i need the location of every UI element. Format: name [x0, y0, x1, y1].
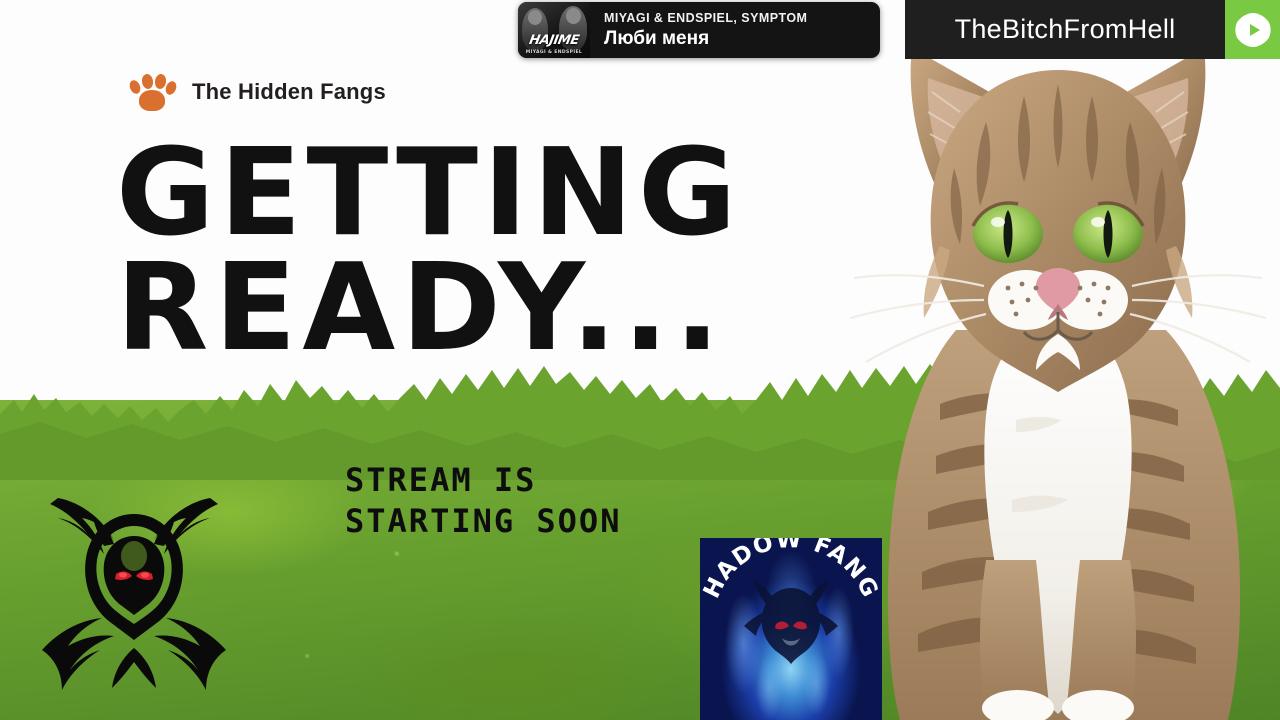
play-triangle-icon: [1233, 10, 1273, 50]
stream-overlay-screen: The Hidden Fangs GETTING READY... STREAM…: [0, 0, 1280, 720]
watermark-label: The Hidden Fangs: [192, 79, 386, 105]
tabby-cat-illustration: [836, 0, 1280, 720]
platform-logo[interactable]: [1225, 0, 1280, 59]
subtitle-line-1: STREAM IS: [345, 460, 765, 501]
subtitle-line-2: STARTING SOON: [345, 501, 765, 542]
page-title: GETTING READY...: [116, 136, 816, 366]
channel-watermark: The Hidden Fangs: [128, 72, 386, 112]
streamer-name: TheBitchFromHell: [955, 14, 1176, 45]
tribal-beast-head-icon: [18, 462, 250, 700]
now-playing-info: MIYAGI & ENDSPIEL, SYMPTOM Люби меня: [590, 11, 880, 50]
status-text: STREAM IS STARTING SOON: [345, 460, 765, 542]
now-playing-track: Люби меня: [604, 28, 858, 50]
album-art-head-right: [566, 8, 581, 24]
album-art-subtitle: MIYAGI & ENDSPIEL: [518, 50, 590, 55]
streamer-name-bar: TheBitchFromHell: [905, 0, 1225, 59]
headline-line-2: READY...: [116, 251, 816, 366]
now-playing-artist: MIYAGI & ENDSPIEL, SYMPTOM: [604, 11, 858, 26]
paw-icon: [128, 72, 176, 112]
now-playing-overlay: HAJIME MIYAGI & ENDSPIEL MIYAGI & ENDSPI…: [518, 2, 880, 58]
album-art-head-left: [528, 10, 542, 25]
album-art-title: HAJIME: [518, 33, 590, 48]
album-art: HAJIME MIYAGI & ENDSPIEL: [518, 2, 590, 58]
